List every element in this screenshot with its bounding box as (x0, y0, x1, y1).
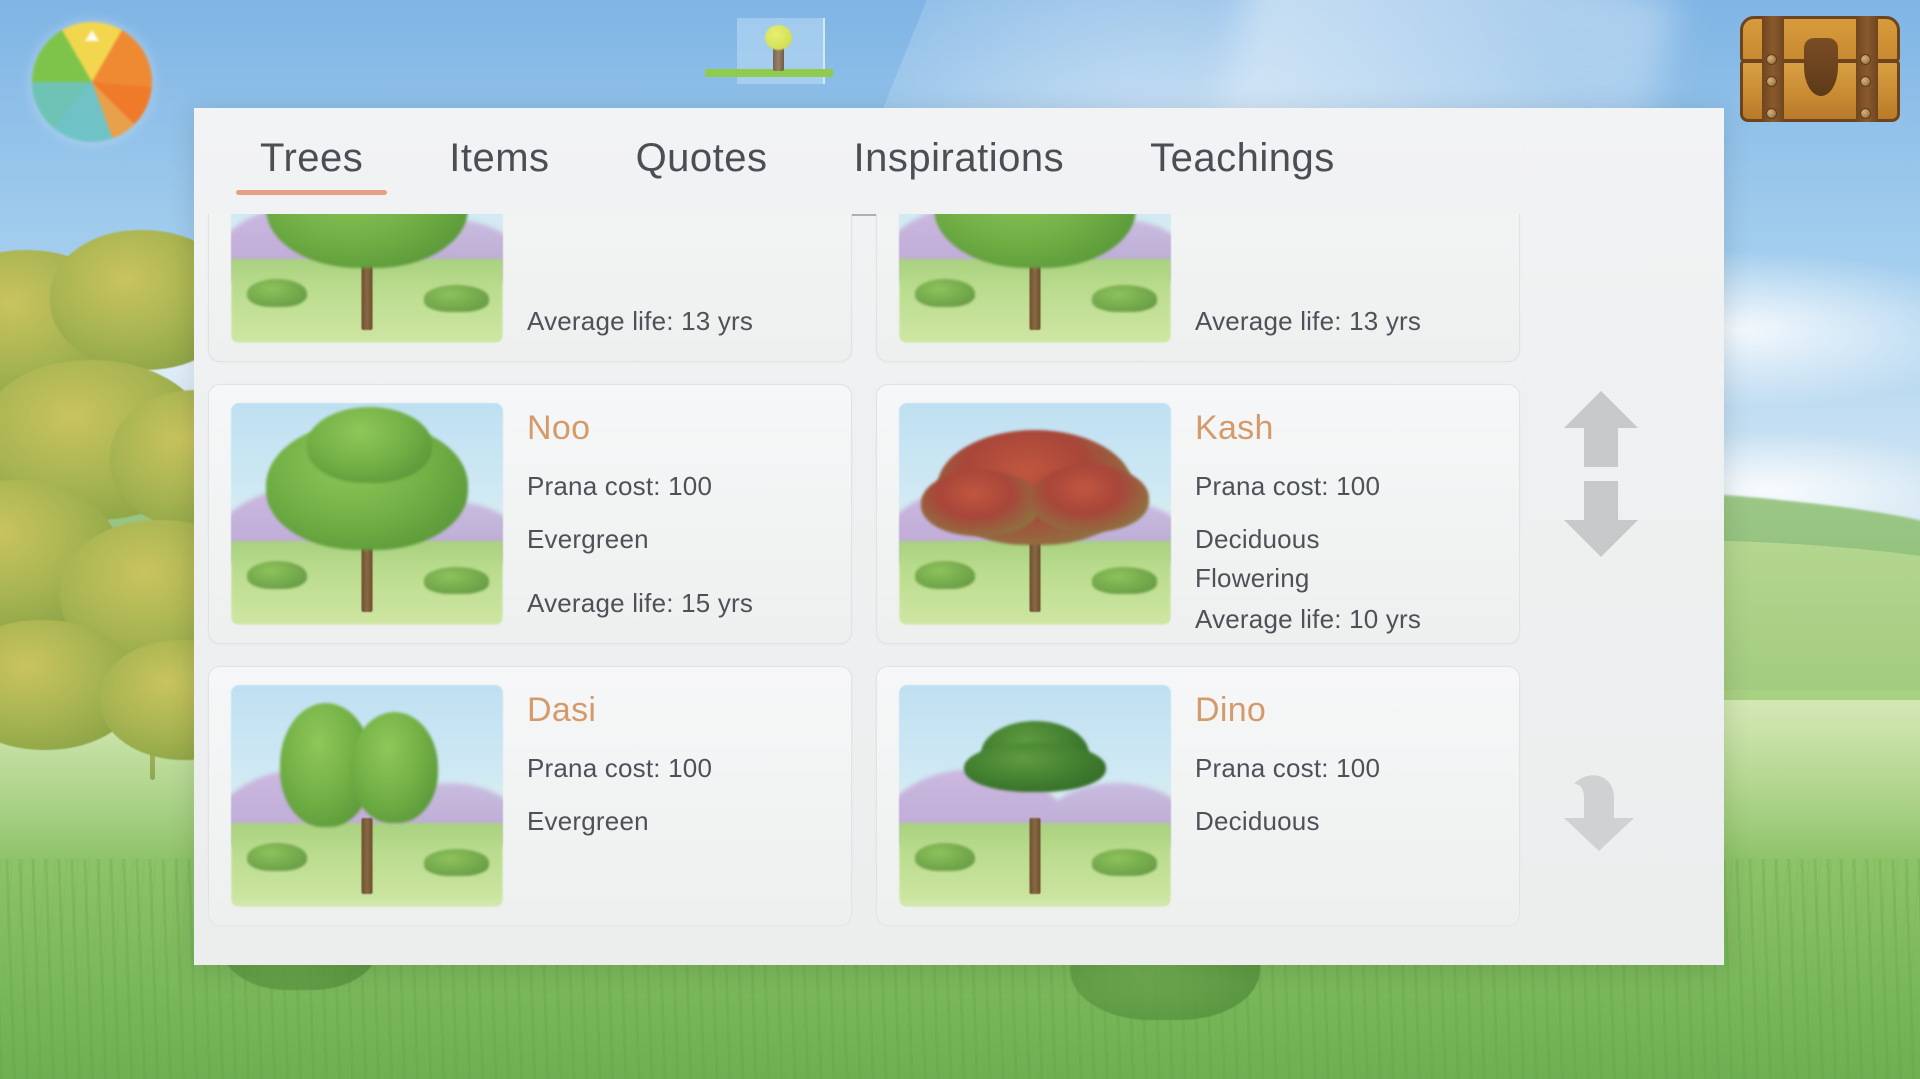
tab-items[interactable]: Items (439, 132, 559, 195)
tab-quotes[interactable]: Quotes (626, 132, 778, 195)
chest-stud (1766, 76, 1777, 87)
tree-card[interactable]: KashPrana cost: 100DeciduousFloweringAve… (876, 384, 1520, 644)
tree-average-life: Average life: 13 yrs (1195, 306, 1509, 337)
wheel-marker-icon (85, 30, 99, 41)
tab-label: Teachings (1150, 136, 1335, 180)
chest-stud (1860, 76, 1871, 87)
thumb-shrub (247, 561, 307, 590)
tree-thumbnail (231, 214, 503, 343)
thumb-crown (964, 743, 1105, 792)
tab-bar: TreesItemsQuotesInspirationsTeachings (194, 108, 1724, 218)
thumb-trunk (1030, 536, 1041, 611)
scroll-up-arrow[interactable] (1562, 388, 1640, 475)
tree-trait: Deciduous (1195, 802, 1509, 841)
tab-label: Inspirations (854, 136, 1065, 180)
tree-average-life: Average life: 10 yrs (1195, 604, 1509, 635)
tree-thumbnail (899, 685, 1171, 907)
spacer (527, 559, 841, 588)
tree-prana-cost: Prana cost: 100 (1195, 749, 1509, 788)
tree-thumbnail (899, 403, 1171, 625)
chest-stud (1766, 54, 1777, 65)
tree-thumbnail (899, 214, 1171, 343)
chest-band (1856, 16, 1878, 122)
tree-trait: Deciduous (1195, 520, 1509, 559)
exit-arrow[interactable] (1556, 762, 1642, 859)
tree-prana-cost: Prana cost: 100 (1195, 467, 1509, 506)
tree-list-viewport[interactable]: Average life: 13 yrsAverage life: 13 yrs… (194, 214, 1534, 960)
curved-down-arrow-icon (1556, 762, 1642, 854)
tree-card[interactable]: DinoPrana cost: 100Deciduous (876, 666, 1520, 926)
chest-stud (1860, 54, 1871, 65)
tree-info: DinoPrana cost: 100Deciduous (1171, 667, 1519, 925)
thumb-crown (307, 407, 432, 482)
tree-thumbnail (231, 685, 503, 907)
spacer (527, 214, 841, 306)
tree-thumbnail (231, 403, 503, 625)
tree-card[interactable]: DasiPrana cost: 100Evergreen (208, 666, 852, 926)
thumb-shrub (915, 279, 975, 308)
arrow-down-icon (1562, 478, 1640, 560)
catalog-panel: TreesItemsQuotesInspirationsTeachings Av… (194, 108, 1724, 965)
tab-label: Trees (260, 136, 363, 180)
thumb-shrub (915, 561, 975, 590)
thumb-trunk (362, 818, 373, 893)
tree-info: NooPrana cost: 100EvergreenAverage life:… (503, 385, 851, 643)
treasure-chest[interactable] (1740, 16, 1900, 122)
tree-prana-cost: Prana cost: 100 (527, 749, 841, 788)
tree-grid: Average life: 13 yrsAverage life: 13 yrs… (194, 214, 1534, 926)
tree-trait: Evergreen (527, 520, 841, 559)
thumb-shrub (247, 279, 307, 308)
tree-average-life: Average life: 13 yrs (527, 306, 841, 337)
chest-stud (1860, 108, 1871, 119)
thumb-shrub (1092, 567, 1157, 594)
thumb-shrub (424, 849, 489, 876)
tree-info: Average life: 13 yrs (503, 214, 851, 361)
tree-info: KashPrana cost: 100DeciduousFloweringAve… (1171, 385, 1519, 643)
chest-lock-icon (1804, 38, 1838, 96)
season-color-wheel[interactable] (32, 22, 152, 142)
thumb-shrub (1092, 285, 1157, 312)
thumb-shrub (424, 285, 489, 312)
spacer (1195, 214, 1509, 306)
tab-teachings[interactable]: Teachings (1140, 132, 1345, 195)
tree-average-life: Average life: 15 yrs (527, 588, 841, 619)
tab-label: Items (449, 136, 549, 180)
thumb-shrub (1092, 849, 1157, 876)
thumb-shrub (915, 843, 975, 872)
thumb-trunk (1030, 818, 1041, 893)
scroll-down-arrow[interactable] (1562, 478, 1640, 565)
tab-trees[interactable]: Trees (250, 132, 373, 195)
spacer (527, 841, 841, 907)
spacer (1195, 841, 1509, 907)
tree-trait: Flowering (1195, 559, 1509, 598)
tree-name: Dasi (527, 693, 841, 727)
chest-stud (1766, 108, 1777, 119)
arrow-up-icon (1562, 388, 1640, 470)
tree-card[interactable]: Average life: 13 yrs (876, 214, 1520, 362)
tree-card[interactable]: Average life: 13 yrs (208, 214, 852, 362)
tab-label: Quotes (636, 136, 768, 180)
chest-band (1762, 16, 1784, 122)
thumb-shrub (247, 843, 307, 872)
tree-trait: Evergreen (527, 802, 841, 841)
tab-inspirations[interactable]: Inspirations (844, 132, 1075, 195)
scroll-controls (1534, 214, 1724, 960)
tab-active-underline (236, 190, 387, 195)
thumb-crown (1030, 465, 1150, 532)
tree-prana-cost: Prana cost: 100 (527, 467, 841, 506)
preview-ground (705, 69, 833, 77)
tree-info: Average life: 13 yrs (1171, 214, 1519, 361)
tree-info: DasiPrana cost: 100Evergreen (503, 667, 851, 925)
tree-name: Kash (1195, 411, 1509, 445)
thumb-shrub (424, 567, 489, 594)
tree-name: Dino (1195, 693, 1509, 727)
tree-name: Noo (527, 411, 841, 445)
sapling-preview[interactable] (737, 18, 825, 84)
thumb-crown (921, 470, 1041, 537)
tree-card[interactable]: NooPrana cost: 100EvergreenAverage life:… (208, 384, 852, 644)
thumb-crown (351, 712, 438, 823)
preview-crown (765, 25, 792, 50)
